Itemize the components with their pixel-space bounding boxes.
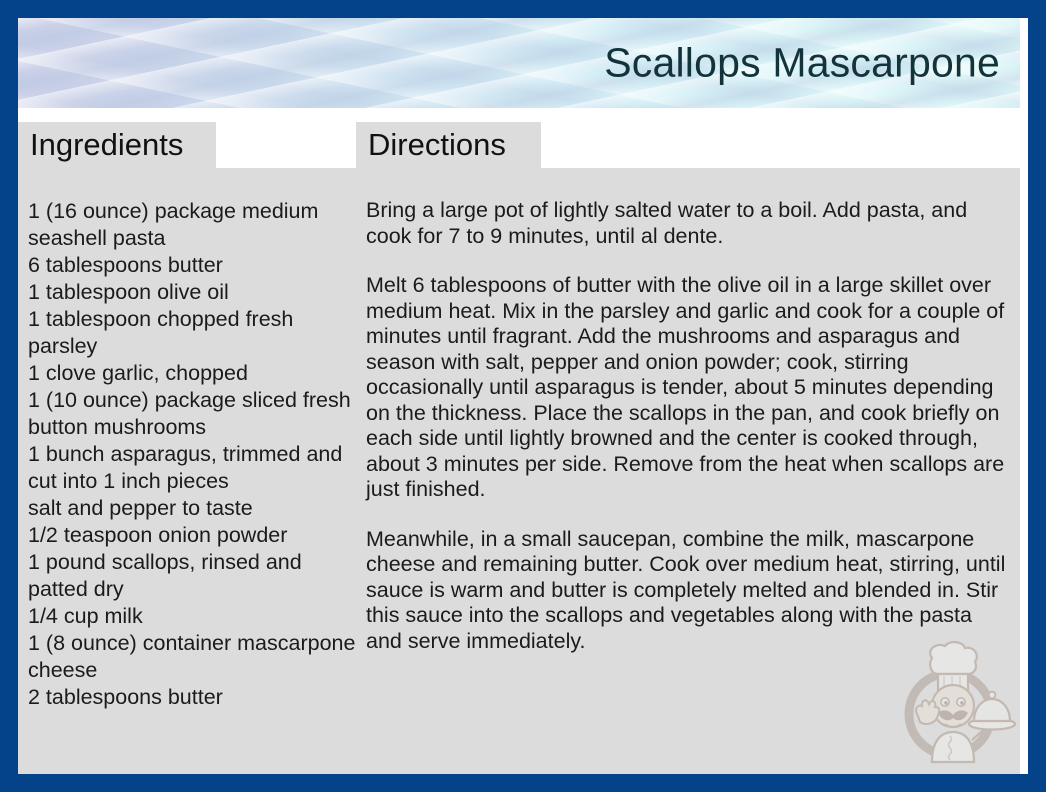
list-item: cheese bbox=[28, 657, 344, 684]
ingredients-panel: 1 (16 ounce) package medium seashell pas… bbox=[18, 168, 356, 774]
direction-paragraph: Meanwhile, in a small saucepan, combine … bbox=[366, 527, 1006, 655]
ingredients-list: 1 (16 ounce) package medium seashell pas… bbox=[18, 168, 356, 774]
list-item: 1 (16 ounce) package medium bbox=[28, 198, 344, 225]
list-item: parsley bbox=[28, 333, 344, 360]
list-item: 1 (10 ounce) package sliced fresh bbox=[28, 387, 344, 414]
directions-tab: Directions bbox=[356, 122, 541, 168]
directions-heading: Directions bbox=[368, 127, 506, 163]
list-item: cut into 1 inch pieces bbox=[28, 468, 344, 495]
list-item: seashell pasta bbox=[28, 225, 344, 252]
title-banner: Scallops Mascarpone bbox=[18, 18, 1020, 108]
list-item: patted dry bbox=[28, 576, 344, 603]
ingredients-tab: Ingredients bbox=[18, 122, 216, 168]
list-item: 1 clove garlic, chopped bbox=[28, 360, 344, 387]
list-item: 1/4 cup milk bbox=[28, 603, 344, 630]
list-item: salt and pepper to taste bbox=[28, 495, 344, 522]
list-item: 6 tablespoons butter bbox=[28, 252, 344, 279]
direction-paragraph: Bring a large pot of lightly salted wate… bbox=[366, 198, 1006, 249]
recipe-card: Scallops Mascarpone bbox=[0, 0, 1046, 792]
list-item: 1 tablespoon olive oil bbox=[28, 279, 344, 306]
directions-panel: Bring a large pot of lightly salted wate… bbox=[356, 168, 1020, 774]
list-item: 1 pound scallops, rinsed and bbox=[28, 549, 344, 576]
page-title: Scallops Mascarpone bbox=[604, 40, 1000, 87]
ingredients-heading: Ingredients bbox=[30, 127, 183, 163]
list-item: 1/2 teaspoon onion powder bbox=[28, 522, 344, 549]
list-item: 1 (8 ounce) container mascarpone bbox=[28, 630, 344, 657]
list-item: 1 tablespoon chopped fresh bbox=[28, 306, 344, 333]
direction-paragraph: Melt 6 tablespoons of butter with the ol… bbox=[366, 273, 1006, 503]
list-item: 2 tablespoons butter bbox=[28, 684, 344, 711]
recipe-page: Scallops Mascarpone bbox=[18, 18, 1028, 774]
directions-body: Bring a large pot of lightly salted wate… bbox=[356, 168, 1020, 774]
list-item: button mushrooms bbox=[28, 414, 344, 441]
list-item: 1 bunch asparagus, trimmed and bbox=[28, 441, 344, 468]
